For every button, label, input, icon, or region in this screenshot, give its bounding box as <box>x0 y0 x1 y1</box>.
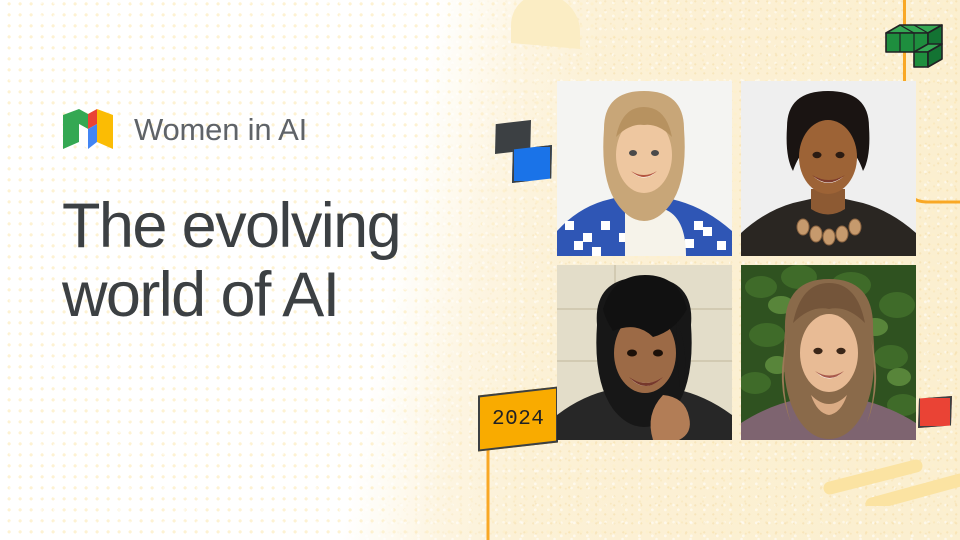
headshot-bottom-right <box>741 265 916 440</box>
speaker-photo-grid <box>557 81 916 440</box>
presentation-slide: Women in AI The evolving world of AI 202… <box>0 0 960 540</box>
page-title: The evolving world of AI <box>62 192 482 331</box>
year-badge: 2024 <box>478 386 558 451</box>
headline-line-2: world of AI <box>62 260 339 330</box>
headshot-bottom-left <box>557 265 732 440</box>
brand-label: Women in AI <box>134 114 307 145</box>
headshot-top-right <box>741 81 916 256</box>
brand-lockup: Women in AI <box>62 108 307 150</box>
headshot-top-left <box>557 81 732 256</box>
year-badge-label: 2024 <box>492 408 544 431</box>
headline-line-1: The evolving <box>62 191 400 261</box>
women-in-ai-cube-logo-icon <box>62 108 114 150</box>
